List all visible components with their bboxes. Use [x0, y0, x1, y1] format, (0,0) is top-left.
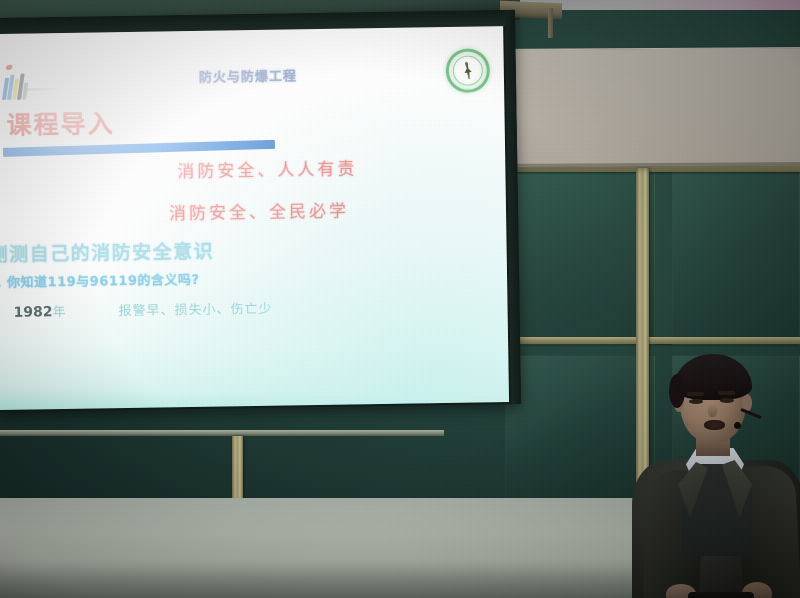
answer-text: 报警早、损失小、伤亡少 [118, 302, 272, 319]
floor-shadow [0, 560, 640, 598]
projection-screen: 防火与防爆工程 课程导入 消防安全、人人有责 消防安全、全民必学 测测自己的消防… [0, 10, 521, 412]
slide-header-title: 防火与防爆工程 [0, 62, 504, 89]
chalkboard-lower-post [232, 436, 243, 506]
slide-title-underline [3, 140, 275, 157]
lecturer-mouth [704, 420, 725, 430]
lecturer-eye-left [689, 399, 703, 404]
classroom-photo: 防火与防爆工程 课程导入 消防安全、人人有责 消防安全、全民必学 测测自己的消防… [0, 0, 800, 598]
slide-quiz-question: 1. 你知道119与96119的含义吗? [0, 269, 200, 291]
chalkboard-panel-top-right [672, 160, 800, 345]
slide-section-title: 课程导入 [6, 104, 115, 142]
lecturer-eye-right [720, 398, 734, 403]
slide-slogan-1: 消防安全、人人有责 [0, 152, 505, 185]
answer-year-unit: 年 [52, 305, 66, 320]
headset-microphone-tip-icon [734, 422, 741, 429]
lecturer [630, 352, 800, 598]
slide-quiz-heading: 测测自己的消防安全意识 [0, 237, 214, 268]
blank-hanging-banner [505, 47, 800, 167]
podium-edge [688, 592, 754, 598]
slide-slogan-2: 消防安全、全民必学 [0, 194, 506, 227]
screen-mount-post [548, 8, 553, 38]
answer-year: 1982 [13, 304, 52, 321]
lecturer-nose [708, 404, 717, 417]
presentation-slide: 防火与防爆工程 课程导入 消防安全、人人有责 消防安全、全民必学 测测自己的消防… [0, 26, 509, 410]
lecturer-hair [674, 354, 752, 400]
lecturer-eyebrow-left [687, 392, 704, 396]
slide-answer-line: 1982年报警早、损失小、伤亡少 [13, 298, 272, 321]
chalkboard-panel-top-left [505, 160, 655, 345]
university-green-seal-icon [445, 48, 490, 93]
seal-inner-emblem-icon [461, 61, 474, 80]
chalkboard-chalk-rail [0, 430, 444, 436]
lecturer-eyebrow-right [718, 391, 735, 395]
multicolor-bar-logo-icon [2, 72, 32, 100]
logo-tail-line [26, 88, 62, 91]
slide-header: 防火与防爆工程 [0, 32, 504, 80]
chalkboard-frame-middle [502, 337, 800, 344]
